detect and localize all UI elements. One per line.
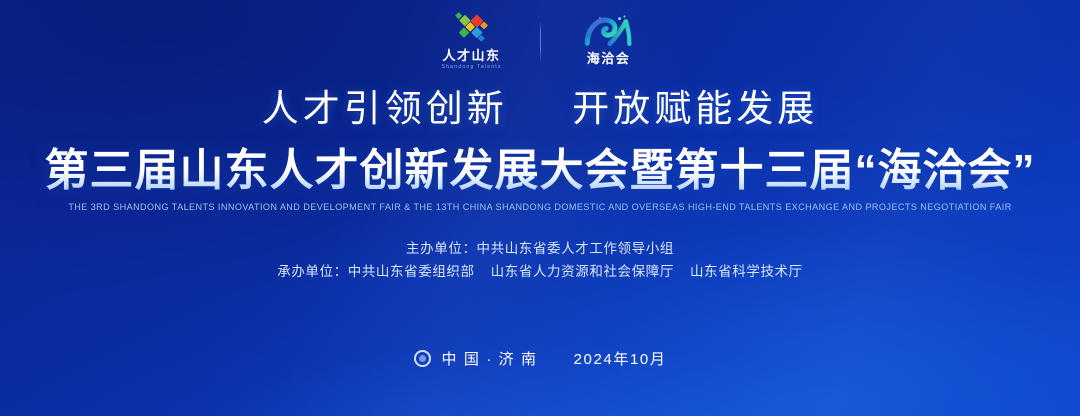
slogan-part-2: 开放赋能发展 bbox=[572, 88, 818, 129]
slogan-part-1: 人才引领创新 bbox=[262, 88, 508, 129]
host-value: 中共山东省委人才工作领导小组 bbox=[477, 241, 674, 256]
event-banner: 人才山东 Shandong Talents bbox=[0, 0, 1080, 416]
logo-divider bbox=[540, 20, 541, 62]
coorganizer-value-2: 山东省人力资源和社会保障厅 bbox=[491, 264, 674, 279]
slogan: 人才引领创新 开放赋能发展 bbox=[0, 90, 1080, 127]
logo-shandong-talents: 人才山东 Shandong Talents bbox=[418, 12, 526, 70]
footer-location: 中 国 · 济 南 bbox=[442, 348, 538, 369]
location-ring-icon bbox=[414, 350, 431, 367]
host-label: 主办单位： bbox=[406, 241, 477, 256]
logo-haiqiahui: 海洽会 bbox=[555, 15, 663, 66]
coorganizer-value-1: 中共山东省委组织部 bbox=[348, 264, 475, 279]
logo-label-cn: 海洽会 bbox=[587, 52, 631, 66]
coorganizer-label: 承办单位： bbox=[277, 264, 348, 279]
logo-label-en: Shandong Talents bbox=[441, 64, 501, 70]
organizers: 主办单位：中共山东省委人才工作领导小组 承办单位：中共山东省委组织部山东省人力资… bbox=[0, 237, 1080, 284]
coorganizer-line: 承办单位：中共山东省委组织部山东省人力资源和社会保障厅山东省科学技术厅 bbox=[0, 260, 1080, 284]
logo-row: 人才山东 Shandong Talents bbox=[0, 0, 1080, 72]
english-subtitle: THE 3RD SHANDONG TALENTS INNOVATION AND … bbox=[0, 202, 1080, 212]
host-line: 主办单位：中共山东省委人才工作领导小组 bbox=[0, 237, 1080, 261]
shandong-talents-diamond-logo bbox=[447, 12, 497, 46]
haiqiahui-wave-logo bbox=[583, 15, 635, 49]
main-title: 第三届山东人才创新发展大会暨第十三届“海洽会” bbox=[0, 147, 1080, 195]
coorganizer-value-3: 山东省科学技术厅 bbox=[690, 264, 803, 279]
footer-date: 2024年10月 bbox=[574, 348, 667, 369]
footer: 中 国 · 济 南 2024年10月 bbox=[0, 348, 1080, 369]
logo-label-cn: 人才山东 bbox=[442, 49, 500, 63]
